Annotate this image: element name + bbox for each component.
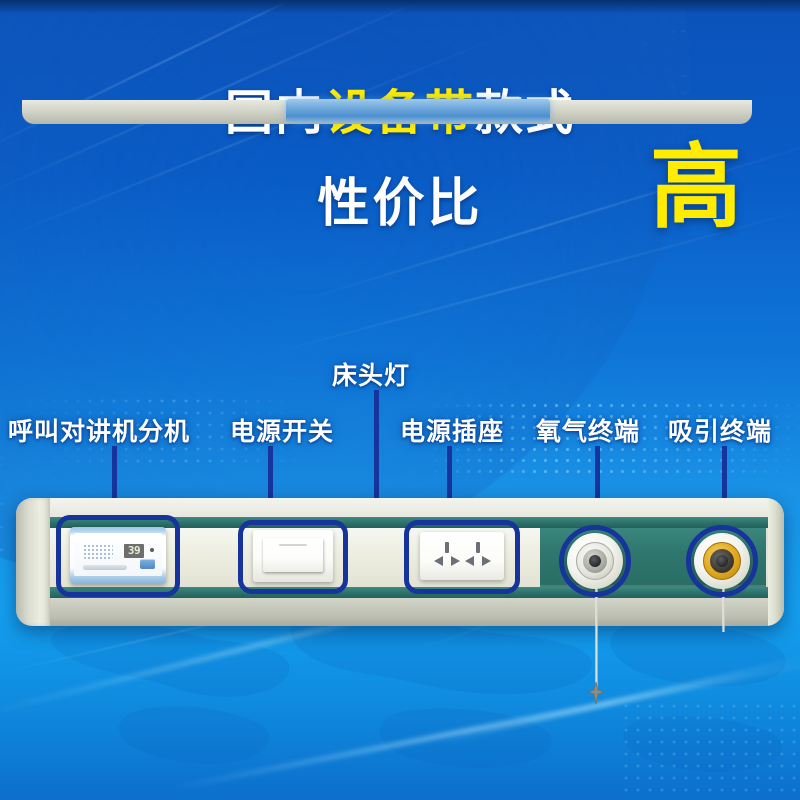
highlight-box-nurse-call	[56, 515, 180, 597]
top-shadow-band	[0, 0, 800, 14]
callout-label-bed-lamp: 床头灯	[332, 356, 410, 392]
highlight-circle-oxygen	[559, 525, 631, 597]
callout-label-power-socket: 电源插座	[400, 412, 504, 448]
cord-connector-icon	[587, 682, 605, 704]
panel-end-cap-right	[768, 498, 784, 626]
callout-label-nurse-call: 呼叫对讲机分机	[8, 412, 190, 448]
callout-label-oxygen-terminal: 氧气终端	[536, 412, 640, 448]
callout-label-suction-terminal: 吸引终端	[668, 412, 772, 448]
headline-accent-high: 高	[650, 142, 742, 234]
halftone-dots-bottom	[620, 700, 800, 800]
panel-end-cap-left	[16, 498, 50, 626]
product-banner: 国内设备带款式 性价比 高 呼叫对讲机分机 电源开关 床头灯 电源插座 氧气终端…	[0, 0, 800, 800]
highlight-box-power-socket	[404, 520, 520, 594]
highlight-circle-suction	[686, 525, 758, 597]
bed-lamp-light-diffuser	[286, 99, 550, 122]
highlight-box-power-switch	[238, 520, 348, 594]
oxygen-hanging-cord	[595, 588, 598, 688]
callout-label-power-switch: 电源开关	[230, 412, 334, 448]
